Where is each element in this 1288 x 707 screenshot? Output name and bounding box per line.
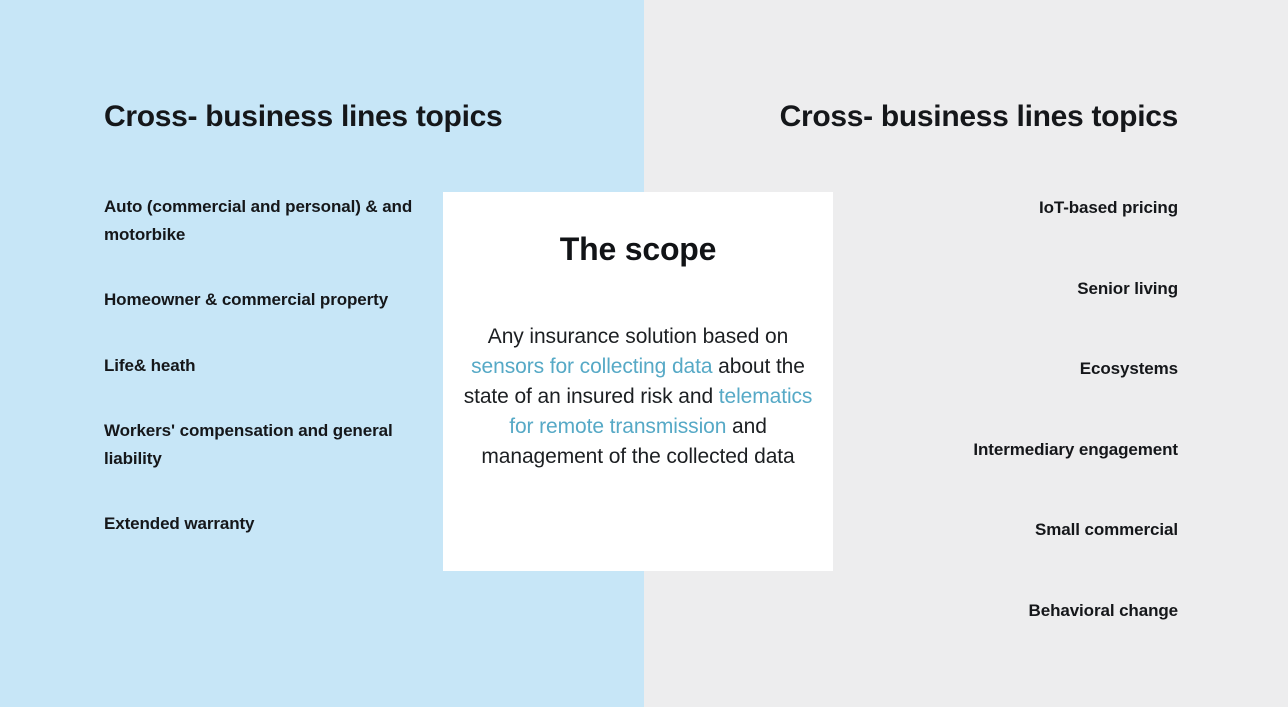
left-column-title: Cross- business lines topics (104, 98, 502, 136)
scope-accent-phrase: sensors for collecting data (471, 355, 712, 378)
list-item: Homeowner & commercial property (104, 286, 424, 314)
list-item: Life& heath (104, 352, 424, 380)
right-column-title: Cross- business lines topics (780, 98, 1178, 136)
slide-canvas: Cross- business lines topics Auto (comme… (0, 0, 1288, 707)
scope-plain-phrase: Any insurance solution based on (488, 325, 788, 348)
scope-card: The scope Any insurance solution based o… (443, 192, 833, 571)
list-item: Auto (commercial and personal) & and mot… (104, 193, 424, 248)
list-item: Behavioral change (748, 597, 1178, 625)
list-item: Workers' compensation and general liabil… (104, 417, 424, 472)
left-column-item-list: Auto (commercial and personal) & and mot… (104, 193, 424, 538)
scope-card-body: Any insurance solution based on sensors … (463, 322, 813, 471)
scope-card-title: The scope (463, 230, 813, 268)
list-item: Extended warranty (104, 510, 424, 538)
